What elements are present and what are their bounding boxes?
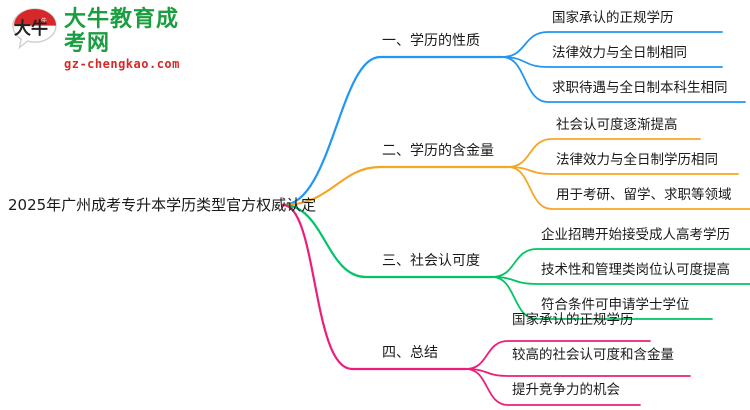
logo-site-url: gz-chengkao.com bbox=[64, 57, 192, 72]
leaf-node-4-3[interactable]: 提升竞争力的机会 bbox=[512, 382, 620, 398]
mindmap-root-node[interactable]: 2025年广州成考专升本学历类型官方权威认定 bbox=[8, 196, 316, 214]
svg-text:大牛: 大牛 bbox=[14, 18, 48, 39]
branch-node-2[interactable]: 二、学历的含金量 bbox=[382, 143, 494, 160]
logo-site-name: 大牛教育成考网 bbox=[64, 8, 192, 56]
leaf-node-3-2[interactable]: 技术性和管理类岗位认可度提高 bbox=[541, 262, 730, 278]
leaf-node-4-2[interactable]: 较高的社会认可度和含金量 bbox=[512, 347, 674, 363]
leaf-node-3-1[interactable]: 企业招聘开始接受成人高考学历 bbox=[541, 227, 730, 243]
logo-mark-icon: 牛 大牛 bbox=[12, 8, 58, 50]
branch-node-4[interactable]: 四、总结 bbox=[382, 345, 438, 362]
leaf-node-3-3[interactable]: 符合条件可申请学士学位 bbox=[541, 297, 690, 313]
site-logo: 牛 大牛 大牛教育成考网 gz-chengkao.com bbox=[12, 6, 192, 54]
leaf-node-2-1[interactable]: 社会认可度逐渐提高 bbox=[556, 117, 678, 133]
leaf-node-2-2[interactable]: 法律效力与全日制学历相同 bbox=[556, 152, 718, 168]
leaf-node-4-1[interactable]: 国家承认的正规学历 bbox=[512, 312, 634, 328]
leaf-node-1-1[interactable]: 国家承认的正规学历 bbox=[552, 10, 674, 26]
leaf-node-1-3[interactable]: 求职待遇与全日制本科生相同 bbox=[552, 80, 728, 96]
branch-node-3[interactable]: 三、社会认可度 bbox=[382, 253, 480, 270]
mindmap-canvas: 牛 大牛 大牛教育成考网 gz-chengkao.com 2025年广州成考专升… bbox=[0, 0, 750, 410]
branch-node-1[interactable]: 一、学历的性质 bbox=[382, 33, 480, 50]
leaf-node-2-3[interactable]: 用于考研、留学、求职等领域 bbox=[556, 187, 732, 203]
logo-wordmark: 大牛教育成考网 gz-chengkao.com bbox=[64, 8, 192, 72]
leaf-node-1-2[interactable]: 法律效力与全日制相同 bbox=[552, 45, 687, 61]
